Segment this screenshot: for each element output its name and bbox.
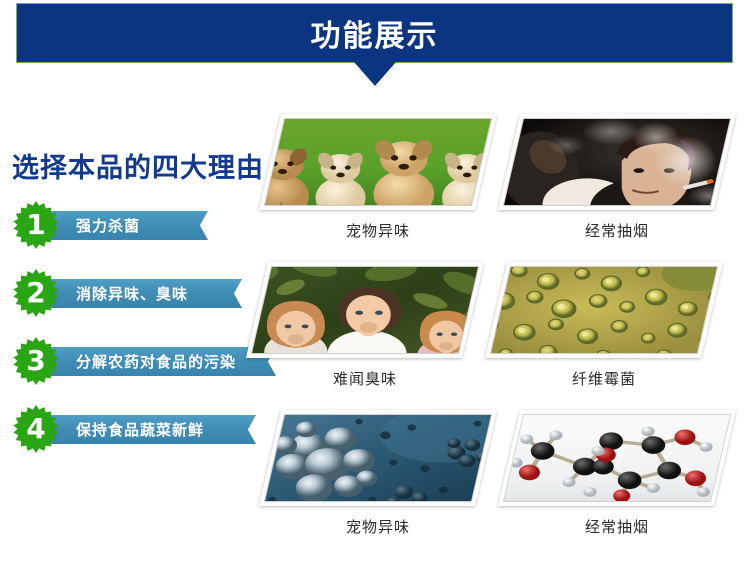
page-title: 功能展示	[17, 4, 732, 62]
mold-microscopy-photo	[490, 266, 718, 354]
photo-cell-mold[interactable]: 纤维霉菌	[496, 260, 730, 408]
photo-caption: 经常抽烟	[509, 516, 725, 537]
photo-caption: 经常抽烟	[509, 220, 725, 241]
ribbon-notch-icon	[190, 211, 208, 240]
reason-label-1: 强力杀菌	[42, 211, 190, 240]
photo-inner	[490, 266, 718, 354]
photo-caption: 难闻臭味	[257, 368, 473, 389]
photo-inner	[264, 414, 492, 502]
reason-badge-2: 2	[10, 268, 62, 320]
children-pinching-noses-photo	[251, 266, 479, 354]
ribbon-notch-icon	[224, 279, 242, 308]
man-smoking-photo	[503, 118, 731, 206]
photo-inner	[503, 414, 731, 502]
photo-inner	[503, 118, 731, 206]
reason-number-3: 3	[26, 347, 45, 377]
reason-badge-1: 1	[10, 200, 62, 252]
photo-caption: 宠物异味	[270, 516, 486, 537]
reason-label-2: 消除异味、臭味	[42, 279, 224, 308]
reason-badge-4: 4	[10, 404, 62, 456]
photo-frame	[259, 114, 497, 210]
photo-cell-smoking[interactable]: 经常抽烟	[509, 112, 743, 260]
reason-label-3: 分解农药对食品的污染	[42, 347, 258, 376]
photo-frame	[498, 410, 736, 506]
photo-grid: 宠物异味	[252, 112, 750, 572]
photo-cell-bad-smell[interactable]: 难闻臭味	[257, 260, 491, 408]
photo-inner	[264, 118, 492, 206]
reason-label-4: 保持食品蔬菜新鲜	[42, 415, 238, 444]
photo-caption: 宠物异味	[270, 220, 486, 241]
reasons-heading: 选择本品的四大理由	[12, 146, 264, 185]
photo-frame	[246, 262, 484, 358]
triangle-down-icon	[354, 62, 396, 86]
reasons-panel: 选择本品的四大理由 强力杀菌 1 消除异味、臭味 2 分解农药对食品的污染	[0, 140, 272, 470]
header-banner: 功能展示	[16, 3, 733, 63]
product-feature-page: 功能展示 选择本品的四大理由 强力杀菌 1 消除异味、臭味 2	[0, 0, 750, 579]
molecule-model-photo	[503, 414, 731, 502]
photo-cell-molecule[interactable]: 经常抽烟	[509, 408, 743, 556]
photo-inner	[251, 266, 479, 354]
photo-caption: 纤维霉菌	[496, 368, 712, 389]
photo-cell-puppies[interactable]: 宠物异味	[270, 112, 504, 260]
photo-frame	[498, 114, 736, 210]
photo-frame	[259, 410, 497, 506]
reason-badge-3: 3	[10, 336, 62, 388]
reason-number-2: 2	[26, 279, 45, 309]
photo-cell-bacteria[interactable]: 宠物异味	[270, 408, 504, 556]
photo-frame	[485, 262, 723, 358]
bacteria-cluster-microscopy-photo	[264, 414, 492, 502]
reason-number-4: 4	[26, 415, 45, 445]
puppies-on-grass-photo	[264, 118, 492, 206]
reason-number-1: 1	[26, 211, 45, 241]
